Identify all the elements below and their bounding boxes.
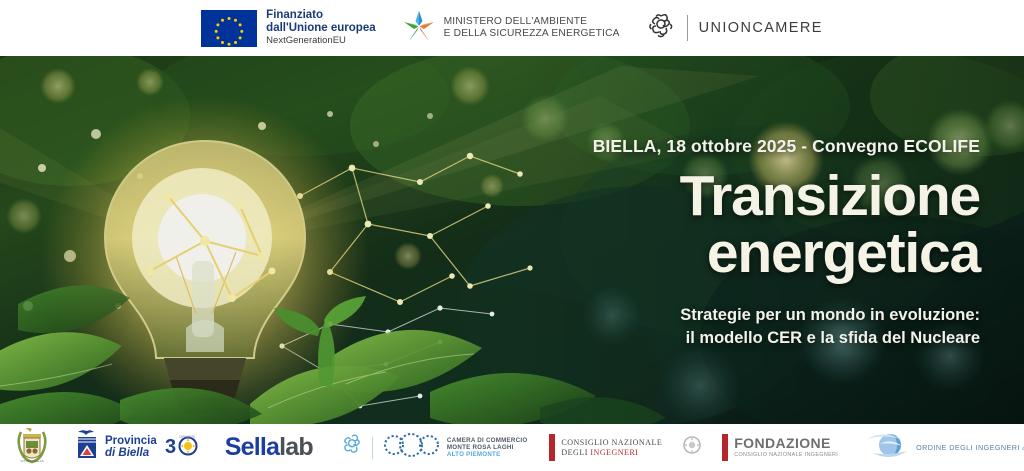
eu-line-3: NextGenerationEU bbox=[266, 36, 375, 47]
provincia-line-2: di Biella bbox=[105, 448, 157, 460]
logo-fondazione-cni: FONDAZIONE CONSIGLIO NAZIONALE INGEGNERI bbox=[722, 434, 838, 461]
eu-flag-icon bbox=[201, 10, 257, 47]
cni-line-2: DEGLI INGEGNERI bbox=[561, 448, 662, 458]
provincia-di-biella-shield-icon bbox=[74, 429, 100, 466]
cni-line-2-prefix: DEGLI bbox=[561, 448, 590, 457]
camera-commercio-line-1: CAMERA DI COMMERCIO bbox=[447, 437, 528, 444]
fondazione-line-2: CONSIGLIO NAZIONALE INGEGNERI bbox=[734, 453, 838, 459]
hero-text-block: BIELLA, 18 ottobre 2025 - Convegno ECOLI… bbox=[560, 136, 980, 350]
svg-text:1995 2025: 1995 2025 bbox=[179, 435, 195, 439]
cni-line-1: CONSIGLIO NAZIONALE bbox=[561, 438, 662, 448]
event-kicker: BIELLA, 18 ottobre 2025 - Convegno ECOLI… bbox=[560, 136, 980, 157]
red-pilaster-icon bbox=[549, 434, 555, 461]
republic-emblem-icon bbox=[682, 435, 702, 460]
ministero-ambiente-logo: MINISTERO DELL'AMBIENTE E DELLA SICUREZZ… bbox=[402, 9, 620, 48]
unioncamere-divider bbox=[687, 15, 688, 41]
eu-funding-text: Finanziato dall'Unione europea NextGener… bbox=[266, 9, 375, 46]
sellalab-wordmark: Sellalab bbox=[225, 433, 313, 462]
hero-subtitle-line-2: il modello CER e la sfida del Nucleare bbox=[560, 327, 980, 350]
logo-consiglio-nazionale-ingegneri: CONSIGLIO NAZIONALE DEGLI INGEGNERI bbox=[549, 434, 662, 461]
svg-text:3: 3 bbox=[165, 436, 176, 458]
cni-line-2-accent: INGEGNERI bbox=[590, 448, 638, 457]
hero-subtitle: Strategie per un mondo in evoluzione: il… bbox=[560, 304, 980, 351]
hero-title-line-2: energetica bbox=[560, 226, 980, 281]
cni-text: CONSIGLIO NAZIONALE DEGLI INGEGNERI bbox=[561, 438, 662, 457]
eu-line-1: Finanziato bbox=[266, 9, 375, 22]
unioncamere-knot-icon bbox=[646, 11, 676, 46]
svg-text:CITTA DI BIELLA: CITTA DI BIELLA bbox=[20, 459, 43, 463]
logo-provincia-di-biella: Provincia di Biella 3 1995 2025 bbox=[74, 429, 199, 466]
unioncamere-logo: UNIONCAMERE bbox=[646, 11, 823, 46]
ministero-line-1: MINISTERO DELL'AMBIENTE bbox=[444, 16, 620, 28]
fondazione-line-1: FONDAZIONE bbox=[734, 436, 838, 451]
globe-swoosh-icon bbox=[864, 430, 910, 465]
logo-sellalab: Sellalab bbox=[225, 433, 313, 462]
provincia-text: Provincia di Biella bbox=[105, 436, 157, 460]
provincia-30-badge-icon: 3 1995 2025 bbox=[163, 432, 199, 463]
ministero-text: MINISTERO DELL'AMBIENTE E DELLA SICUREZZ… bbox=[444, 16, 620, 41]
sellalab-part-1: Sella bbox=[225, 433, 279, 461]
logo-ordine-ingegneri-biella: ORDINE DEGLI INGEGNERI della PROVINCIA D… bbox=[864, 430, 1024, 465]
partner-logos-bar: CITTA DI BIELLA Provincia di Biella bbox=[0, 424, 1024, 471]
camera-commercio-line-3: ALTO PIEMONTE bbox=[447, 451, 528, 458]
eu-line-2: dall'Unione europea bbox=[266, 22, 375, 35]
ordine-ingegneri-label: ORDINE DEGLI INGEGNERI della PROVINCIA D… bbox=[916, 443, 1024, 452]
funding-logos-bar: Finanziato dall'Unione europea NextGener… bbox=[0, 0, 1024, 56]
camera-commercio-rings-icon bbox=[380, 432, 442, 463]
unioncamere-label: UNIONCAMERE bbox=[699, 20, 823, 36]
ordine-label-main: ORDINE DEGLI INGEGNERI bbox=[916, 443, 1020, 452]
ministero-line-2: E DELLA SICUREZZA ENERGETICA bbox=[444, 28, 620, 40]
unioncamere-knot-icon bbox=[339, 432, 365, 463]
ministero-star-icon bbox=[402, 9, 436, 48]
hero-banner: BIELLA, 18 ottobre 2025 - Convegno ECOLI… bbox=[0, 56, 1024, 424]
logo-comune-di-biella: CITTA DI BIELLA bbox=[14, 426, 50, 469]
provincia-line-1: Provincia bbox=[105, 436, 157, 448]
logo-repubblica-italiana bbox=[682, 435, 702, 460]
hero-title-line-1: Transizione bbox=[560, 169, 980, 224]
hero-subtitle-line-1: Strategie per un mondo in evoluzione: bbox=[560, 304, 980, 327]
eu-funding-logo: Finanziato dall'Unione europea NextGener… bbox=[201, 9, 375, 46]
red-pilaster-icon bbox=[722, 434, 728, 461]
camera-commercio-line-2: MONTE ROSA LAGHI bbox=[447, 444, 528, 451]
camera-commercio-divider bbox=[372, 437, 373, 459]
logo-camera-di-commercio: CAMERA DI COMMERCIO MONTE ROSA LAGHI ALT… bbox=[339, 432, 528, 463]
camera-commercio-text: CAMERA DI COMMERCIO MONTE ROSA LAGHI ALT… bbox=[447, 437, 528, 459]
poster-page: Finanziato dall'Unione europea NextGener… bbox=[0, 0, 1024, 471]
fondazione-text: FONDAZIONE CONSIGLIO NAZIONALE INGEGNERI bbox=[734, 436, 838, 458]
comune-di-biella-crest-icon: CITTA DI BIELLA bbox=[14, 426, 50, 469]
sellalab-part-2: lab bbox=[279, 433, 313, 461]
